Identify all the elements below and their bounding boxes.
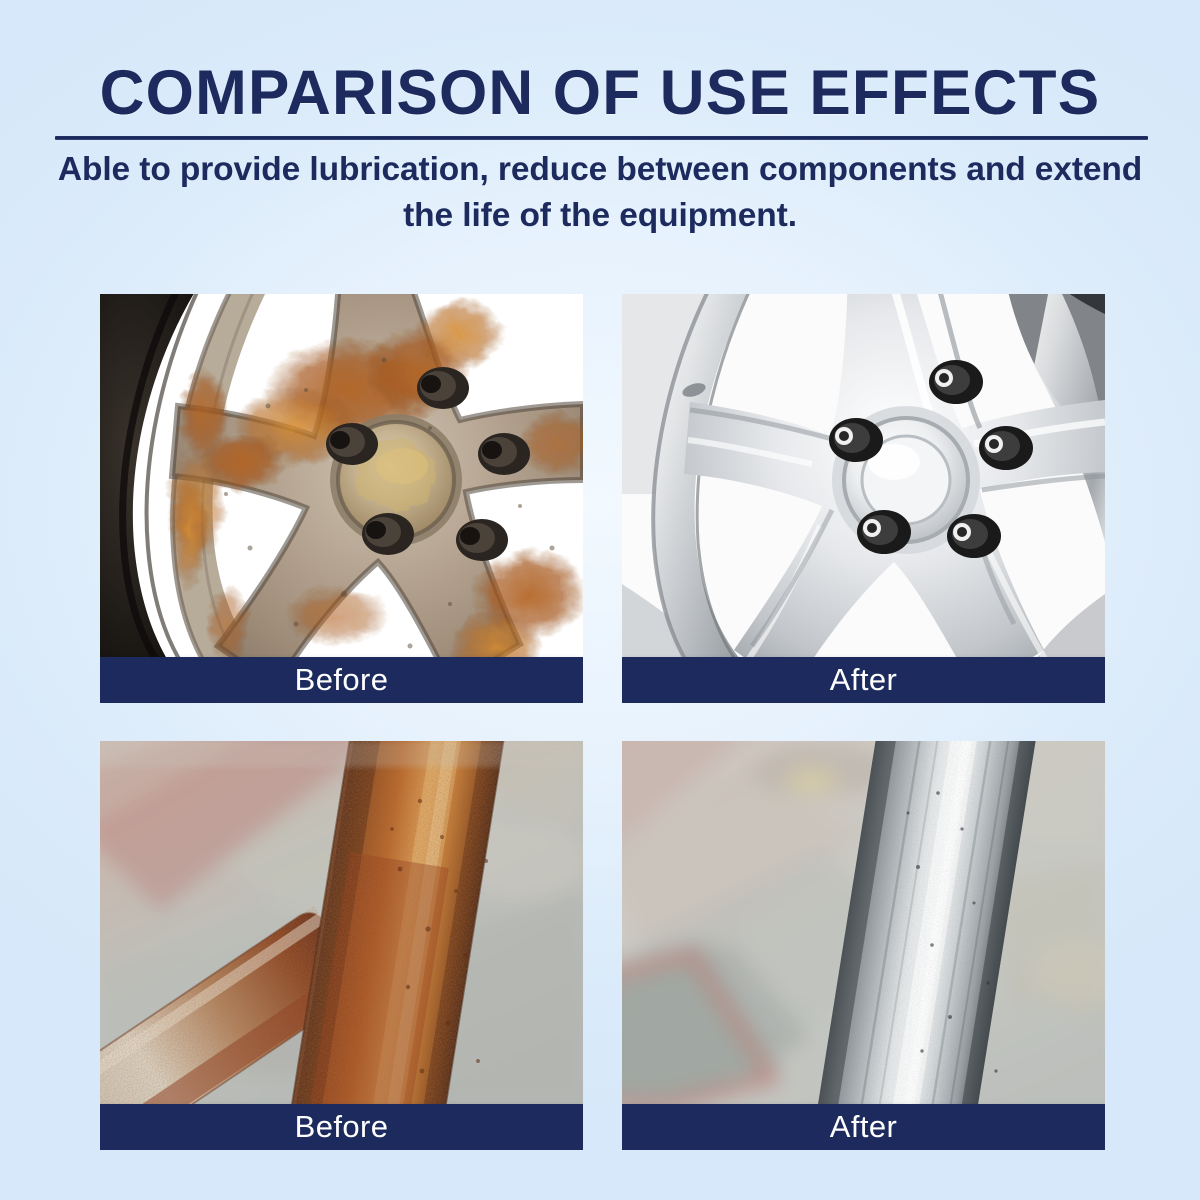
comparison-card-wheel-before: Before [100,294,583,703]
comparison-grid: Before [100,294,1105,1144]
photo-rusty-pipes [100,741,583,1104]
comparison-card-wheel-after: After [622,294,1105,703]
photo-clean-wheel [622,294,1105,657]
page-subtitle: Able to provide lubrication, reduce betw… [0,125,1200,238]
title-divider [55,136,1148,140]
caption-after-pipe: After [622,1104,1105,1150]
comparison-card-pipe-before: Before [100,741,583,1150]
page-title: COMPARISON OF USE EFFECTS [9,0,1191,125]
caption-before-pipe: Before [100,1104,583,1150]
photo-rusty-wheel [100,294,583,657]
header: COMPARISON OF USE EFFECTS Able to provid… [0,0,1200,238]
caption-before-wheel: Before [100,657,583,703]
comparison-card-pipe-after: After [622,741,1105,1150]
comparison-infographic: COMPARISON OF USE EFFECTS Able to provid… [0,0,1200,1200]
caption-after-wheel: After [622,657,1105,703]
photo-clean-pipe [622,741,1105,1104]
